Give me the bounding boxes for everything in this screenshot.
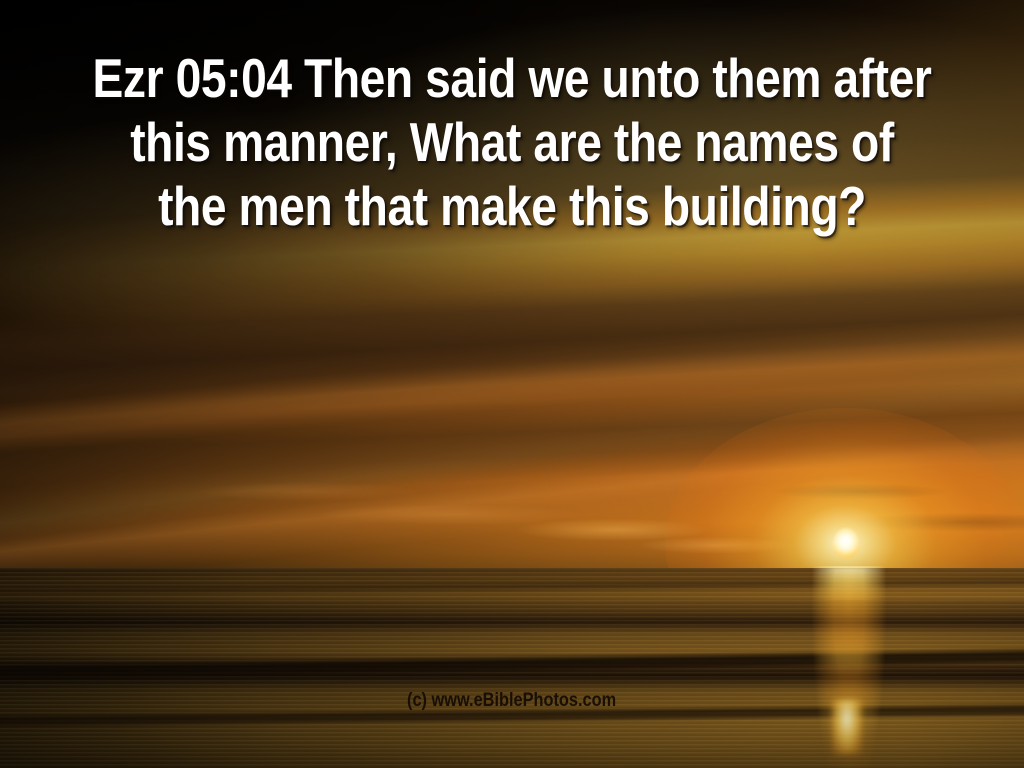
verse-line-1: Ezr 05:04 Then said we unto them after (82, 46, 942, 110)
sunset-verse-image: Ezr 05:04 Then said we unto them after t… (0, 0, 1024, 768)
verse-line-3: the men that make this building? (82, 174, 942, 238)
sun-icon (833, 528, 859, 558)
verse-line-2: this manner, What are the names of (82, 110, 942, 174)
watermark: (c) www.eBiblePhotos.com (0, 691, 1024, 711)
verse-text-block: Ezr 05:04 Then said we unto them after t… (0, 46, 1024, 238)
watermark-text: (c) www.eBiblePhotos.com (407, 691, 616, 711)
bottom-vignette (0, 600, 1024, 768)
